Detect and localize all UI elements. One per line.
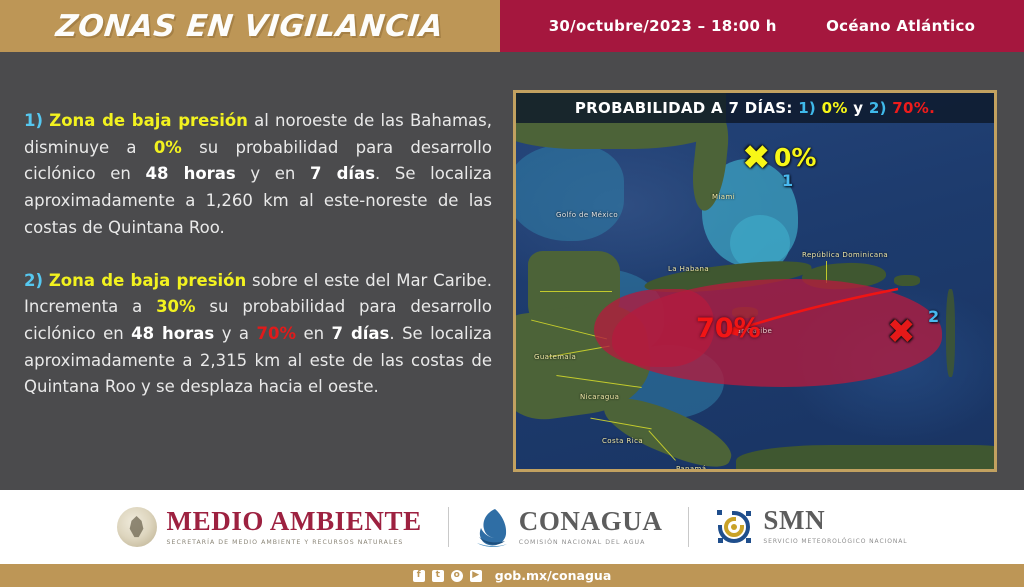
bulletin-2-text-d: en	[296, 324, 332, 343]
map-title-pct-1: 0%	[822, 99, 848, 117]
conagua-eagle-water-icon	[475, 506, 509, 548]
motion-arrow-icon	[636, 283, 906, 353]
logo-conagua: CONAGUA COMISIÓN NACIONAL DEL AGUA	[475, 506, 663, 548]
geo-label-dominicana: República Dominicana	[802, 251, 888, 259]
bulletin-1-probability: 0%	[154, 138, 182, 157]
bulletin-text-panel: 1) Zona de baja presión al noroeste de l…	[24, 108, 492, 427]
header-title-band: ZONAS EN VIGILANCIA	[0, 0, 500, 52]
mexico-eagle-seal-icon	[117, 507, 157, 547]
geo-label-habana: La Habana	[668, 265, 709, 273]
footer-logo-bar: MEDIO AMBIENTE SECRETARÍA DE MEDIO AMBIE…	[0, 490, 1024, 564]
footer-social-bar: f t o ▶ gob.mx/conagua	[0, 564, 1024, 587]
conagua-subtitle: COMISIÓN NACIONAL DEL AGUA	[519, 540, 663, 546]
bulletin-2-index: 2)	[24, 271, 43, 290]
twitter-icon[interactable]: t	[432, 570, 444, 582]
medio-ambiente-title: MEDIO AMBIENTE	[167, 508, 422, 535]
map-canvas: Golfo de México Miami La Habana Repúblic…	[516, 93, 994, 469]
bulletin-1-index: 1)	[24, 111, 43, 130]
instagram-icon[interactable]: o	[451, 570, 463, 582]
logo-divider-1	[448, 507, 449, 547]
geo-label-costarica: Costa Rica	[602, 437, 643, 445]
land-lesser-antilles	[946, 289, 955, 377]
page-header: ZONAS EN VIGILANCIA 30/octubre/2023 – 18…	[0, 0, 1024, 52]
youtube-icon[interactable]: ▶	[470, 570, 482, 582]
header-meta-band: 30/octubre/2023 – 18:00 h Océano Atlánti…	[500, 0, 1024, 52]
geo-label-panama: Panamá	[676, 465, 706, 472]
map-title-conjunction: y	[853, 99, 863, 117]
bulletin-item-1: 1) Zona de baja presión al noroeste de l…	[24, 108, 492, 242]
bulletin-item-2: 2) Zona de baja presión sobre el este de…	[24, 268, 492, 402]
map-title-index-2: 2)	[869, 99, 887, 117]
geo-label-gulf: Golfo de México	[556, 211, 618, 219]
logo-divider-2	[688, 507, 689, 547]
bulletin-2-text-c: y a	[214, 324, 256, 343]
map-title-period: .	[929, 99, 935, 117]
geo-label-nicaragua: Nicaragua	[580, 393, 619, 401]
geo-label-miami: Miami	[712, 193, 735, 201]
marker-2-x-icon: ✖	[887, 315, 916, 349]
logo-smn: SMN SERVICIO METEOROLÓGICO NACIONAL	[715, 507, 907, 546]
bulletin-2-probability-48h: 30%	[156, 297, 196, 316]
bulletin-1-window-48h: 48 horas	[145, 164, 235, 183]
map-title-pct-2: 70%	[892, 99, 929, 117]
border-yucatan-internal	[540, 291, 612, 292]
land-south-america	[736, 445, 997, 472]
marker-1-number: 1	[782, 171, 793, 190]
marker-2-number: 2	[928, 307, 939, 326]
map-title-bar: PROBABILIDAD A 7 DÍAS: 1) 0% y 2) 70%.	[516, 93, 994, 123]
shelf-gulf	[513, 145, 624, 241]
facebook-icon[interactable]: f	[413, 570, 425, 582]
medio-ambiente-subtitle: SECRETARÍA DE MEDIO AMBIENTE Y RECURSOS …	[167, 540, 422, 546]
bulletin-datetime: 30/octubre/2023 – 18:00 h	[549, 17, 777, 35]
bulletin-1-text-c: y en	[236, 164, 310, 183]
marker-1-probability: 0%	[774, 143, 816, 172]
smn-subtitle: SERVICIO METEOROLÓGICO NACIONAL	[763, 538, 907, 546]
probability-area-70-label: 70%	[696, 313, 761, 344]
logo-medio-ambiente: MEDIO AMBIENTE SECRETARÍA DE MEDIO AMBIE…	[117, 507, 422, 547]
bulletin-1-lead: Zona de baja presión	[49, 111, 248, 130]
bulletin-2-window-7d: 7 días	[332, 324, 390, 343]
bulletin-2-probability-7d: 70%	[256, 324, 296, 343]
conagua-title: CONAGUA	[519, 508, 663, 535]
page-title: ZONAS EN VIGILANCIA	[55, 9, 446, 44]
map-title-index-1: 1)	[798, 99, 816, 117]
ocean-basin-label: Océano Atlántico	[826, 17, 975, 35]
smn-title: SMN	[763, 507, 907, 534]
marker-1-x-icon: ✖	[742, 141, 771, 175]
smn-spiral-glyph-icon	[715, 508, 753, 546]
bulletin-2-window-48h: 48 horas	[131, 324, 214, 343]
map-title-prefix: PROBABILIDAD A 7 DÍAS:	[575, 99, 793, 117]
bulletin-1-window-7d: 7 días	[310, 164, 375, 183]
content-area: 1) Zona de baja presión al noroeste de l…	[0, 52, 1024, 490]
forecast-map[interactable]: Golfo de México Miami La Habana Repúblic…	[513, 90, 997, 472]
bulletin-2-lead: Zona de baja presión	[49, 271, 246, 290]
website-url[interactable]: gob.mx/conagua	[495, 568, 612, 583]
geo-label-guatemala: Guatemala	[534, 353, 576, 361]
